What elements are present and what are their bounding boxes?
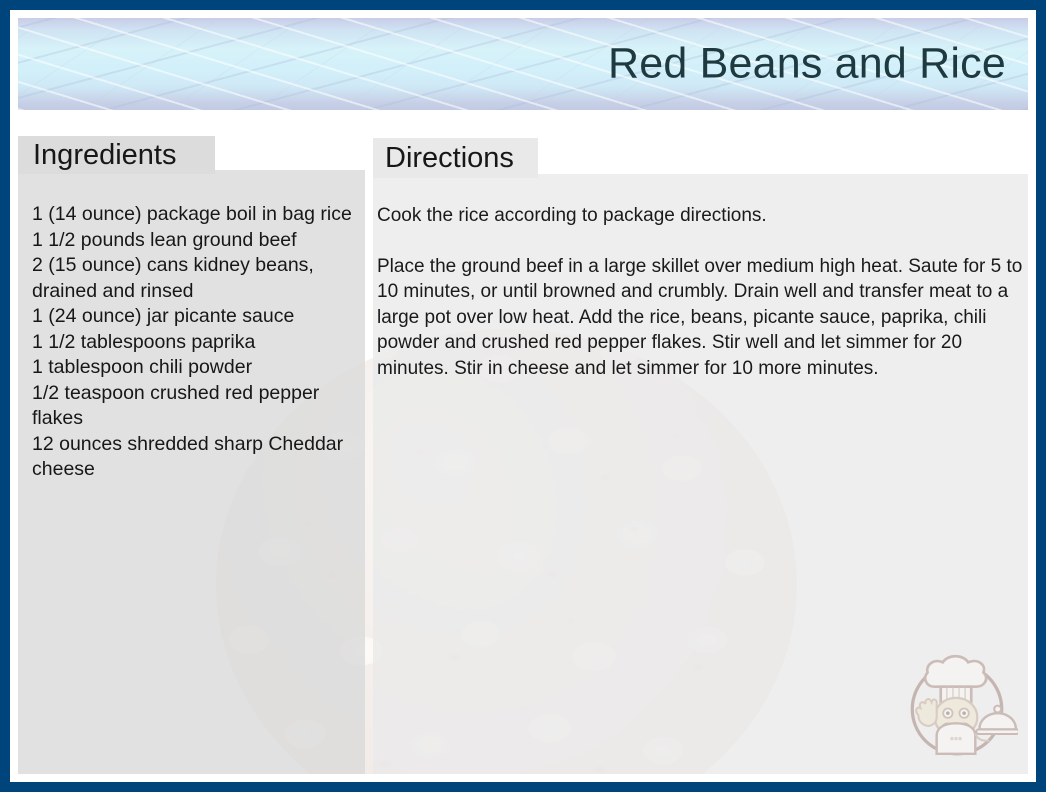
directions-paragraph: Place the ground beef in a large skillet… [377, 254, 1025, 382]
list-item: 2 (15 ounce) cans kidney beans, drained … [32, 253, 362, 304]
directions-paragraph: Cook the rice according to package direc… [377, 203, 1025, 229]
list-item: 1 (24 ounce) jar picante sauce [32, 304, 362, 330]
directions-text: Cook the rice according to package direc… [377, 203, 1025, 381]
list-item: 1 1/2 tablespoons paprika [32, 330, 362, 356]
slide-paper: Red Beans and Rice Ingredients 1 (14 oun… [10, 10, 1036, 782]
list-item: 1/2 teaspoon crushed red pepper flakes [32, 381, 362, 432]
ingredients-header-tab: Ingredients [18, 136, 215, 174]
list-item: 1 1/2 pounds lean ground beef [32, 228, 362, 254]
directions-heading: Directions [385, 144, 514, 173]
list-item: 12 ounces shredded sharp Cheddar cheese [32, 432, 362, 483]
ingredients-heading: Ingredients [33, 141, 177, 170]
page-title: Red Beans and Rice [608, 41, 1006, 86]
title-banner: Red Beans and Rice [18, 18, 1028, 110]
ingredients-list: 1 (14 ounce) package boil in bag rice 1 … [32, 202, 362, 483]
directions-header-tab: Directions [373, 138, 538, 178]
list-item: 1 (14 ounce) package boil in bag rice [32, 202, 362, 228]
recipe-slide: Red Beans and Rice Ingredients 1 (14 oun… [0, 0, 1046, 792]
list-item: 1 tablespoon chili powder [32, 355, 362, 381]
